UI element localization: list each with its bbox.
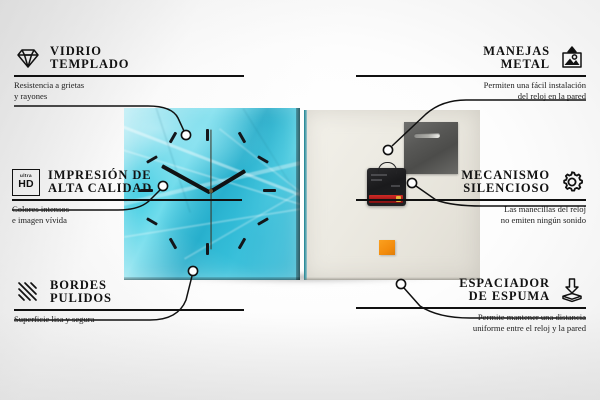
feature-divider bbox=[356, 75, 586, 77]
feature-description: Permite mantener una distanciauniforme e… bbox=[356, 312, 586, 334]
feature-header: VIDRIOTEMPLADO bbox=[14, 44, 244, 72]
feature-description: Permiten una fácil instalacióndel reloj … bbox=[356, 80, 586, 102]
ultra-hd-icon-main-text: HD bbox=[18, 179, 34, 190]
hanger-keyhole-slot bbox=[414, 133, 440, 138]
feature-title: MANEJASMETAL bbox=[483, 45, 550, 72]
feature-divider bbox=[12, 199, 242, 201]
feature-impresion-alta-calidad: ultra HD IMPRESIÓN DEALTA CALIDAD Colore… bbox=[12, 168, 242, 226]
feature-description: Colores intensose imagen vívida bbox=[12, 204, 242, 226]
wall-frame-hanger-icon bbox=[558, 44, 586, 72]
feature-divider bbox=[14, 309, 244, 311]
orange-foam-spacer bbox=[379, 240, 395, 255]
feature-bordes-pulidos: BORDESPULIDOS Superficie lisa y segura bbox=[14, 278, 244, 325]
feature-description: Resistencia a grietasy rayones bbox=[14, 80, 244, 102]
feature-espaciador-espuma: ESPACIADORDE ESPUMA Permite mantener una… bbox=[356, 276, 586, 334]
gear-icon bbox=[558, 168, 586, 196]
glass-edge-right bbox=[296, 108, 300, 280]
infographic-page: VIDRIOTEMPLADO Resistencia a grietasy ra… bbox=[0, 0, 600, 400]
feature-header: MECANISMOSILENCIOSO bbox=[356, 168, 586, 196]
polished-edges-icon bbox=[14, 278, 42, 306]
feature-title: IMPRESIÓN DEALTA CALIDAD bbox=[48, 169, 152, 196]
feature-description: Superficie lisa y segura bbox=[14, 314, 244, 325]
feature-manejas-metal: MANEJASMETAL Permiten una fácil instalac… bbox=[356, 44, 586, 102]
feature-vidrio-templado: VIDRIOTEMPLADO Resistencia a grietasy ra… bbox=[14, 44, 244, 102]
feature-divider bbox=[356, 199, 586, 201]
feature-mecanismo-silencioso: MECANISMOSILENCIOSO Las manecillas del r… bbox=[356, 168, 586, 226]
feature-divider bbox=[356, 307, 586, 309]
feature-header: ultra HD IMPRESIÓN DEALTA CALIDAD bbox=[12, 168, 242, 196]
feature-divider bbox=[14, 75, 244, 77]
feature-description: Las manecillas del relojno emiten ningún… bbox=[356, 204, 586, 226]
feature-title: VIDRIOTEMPLADO bbox=[50, 45, 129, 72]
foam-spacer-arrow-icon bbox=[558, 276, 586, 304]
ultra-hd-icon: ultra HD bbox=[12, 168, 40, 196]
back-panel-edge bbox=[304, 110, 307, 280]
feature-header: BORDESPULIDOS bbox=[14, 278, 244, 306]
metal-hanger-plate bbox=[404, 122, 458, 174]
diamond-icon bbox=[14, 44, 42, 72]
feature-header: MANEJASMETAL bbox=[356, 44, 586, 72]
feature-title: BORDESPULIDOS bbox=[50, 279, 112, 306]
feature-title: ESPACIADORDE ESPUMA bbox=[459, 277, 550, 304]
feature-header: ESPACIADORDE ESPUMA bbox=[356, 276, 586, 304]
feature-title: MECANISMOSILENCIOSO bbox=[461, 169, 550, 196]
